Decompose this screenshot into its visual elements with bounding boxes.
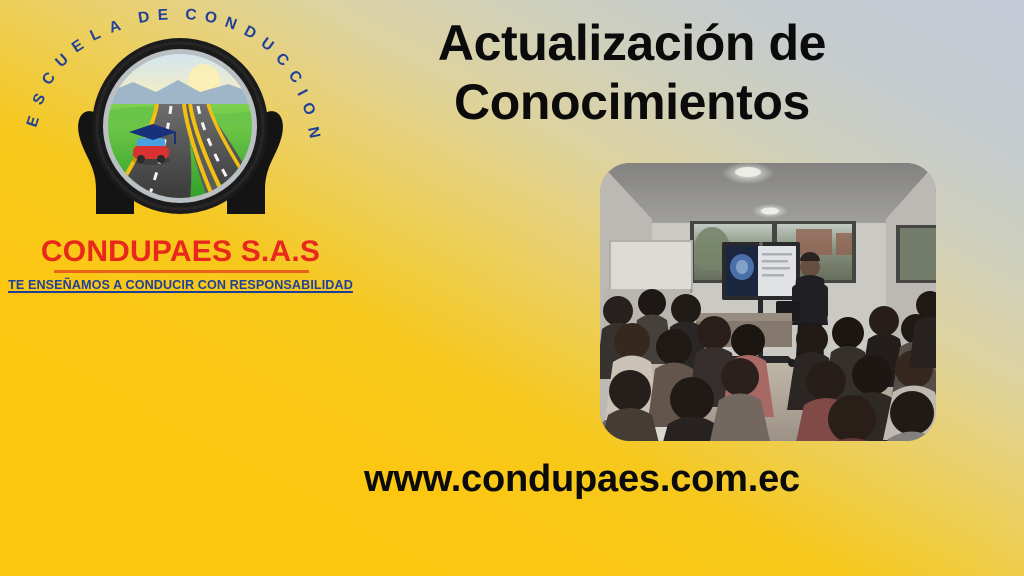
svg-text:C: C xyxy=(285,67,305,86)
svg-text:C: C xyxy=(185,8,198,24)
svg-text:U: U xyxy=(52,51,72,71)
website-url: www.condupaes.com.ec xyxy=(272,458,892,501)
svg-text:C: C xyxy=(272,50,292,70)
svg-text:C: C xyxy=(39,69,59,88)
page-title-line-1: Actualización de xyxy=(372,14,892,73)
svg-text:E: E xyxy=(157,8,168,24)
classroom-photo xyxy=(600,163,936,441)
svg-text:E: E xyxy=(69,36,87,56)
brand-tagline: TE ENSEÑAMOS A CONDUCIR CON RESPONSABILI… xyxy=(8,278,353,292)
svg-text:L: L xyxy=(88,25,104,44)
brand-name: CONDUPAES S.A.S xyxy=(8,236,353,268)
svg-text:D: D xyxy=(137,8,151,27)
svg-text:A: A xyxy=(107,17,123,37)
svg-text:I: I xyxy=(293,87,310,99)
svg-text:S: S xyxy=(30,91,50,108)
page-title: Actualización de Conocimientos xyxy=(372,14,892,131)
brand-name-underline xyxy=(54,270,309,273)
svg-text:D: D xyxy=(241,23,259,43)
svg-text:O: O xyxy=(298,100,318,118)
svg-text:U: U xyxy=(258,34,277,54)
svg-text:N: N xyxy=(304,125,323,139)
page-title-line-2: Conocimientos xyxy=(372,73,892,132)
svg-text:O: O xyxy=(203,8,218,27)
svg-text:N: N xyxy=(223,14,239,34)
svg-text:E: E xyxy=(24,114,43,129)
presentation-slide: E S C U E L A D E C O N D U C C I xyxy=(0,0,1024,576)
logo-emblem-icon: E S C U E L A D E C O N D U C C I xyxy=(8,8,353,238)
condupaes-logo: E S C U E L A D E C O N D U C C I xyxy=(8,8,353,303)
